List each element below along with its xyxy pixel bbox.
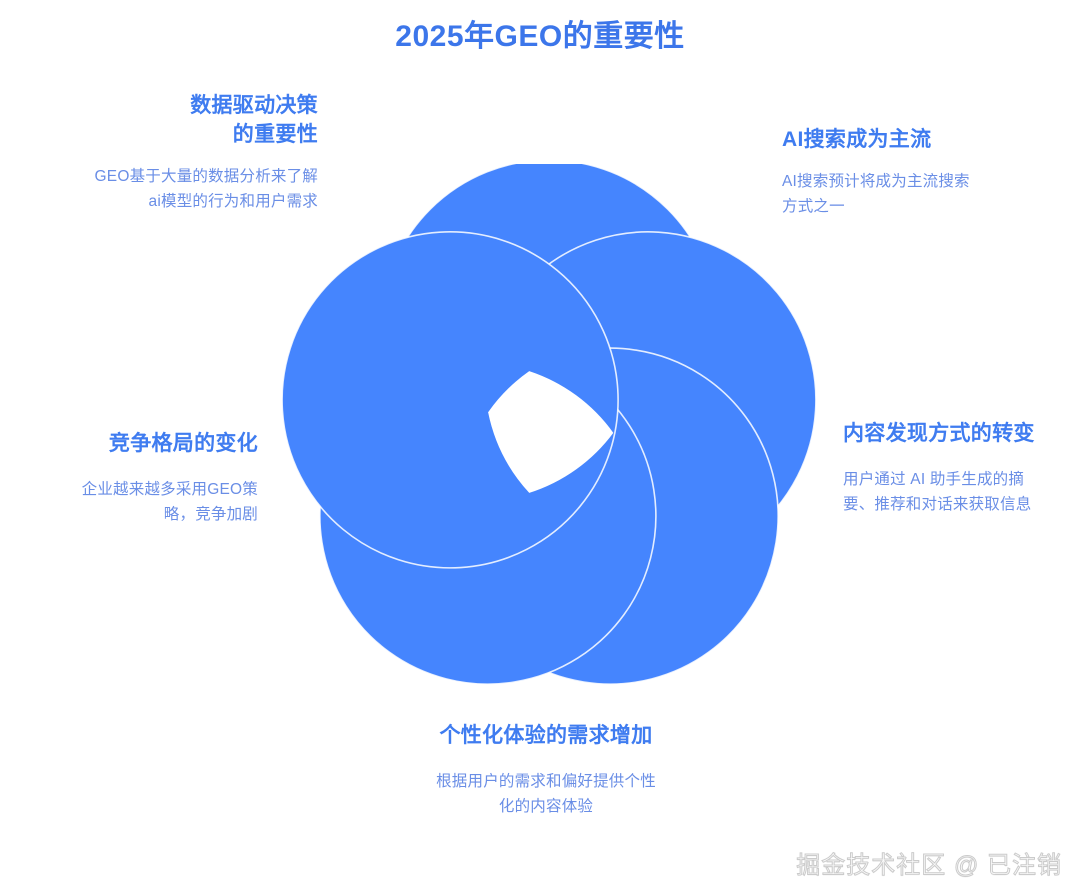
node-personalization-desc: 根据用户的需求和偏好提供个性化的内容体验 [432, 769, 660, 819]
spacer [432, 751, 660, 769]
node-ai-search-title: AI搜索成为主流 [782, 126, 982, 155]
watermark: 掘金技术社区 @ 已注销 [796, 854, 1062, 878]
spacer [782, 155, 982, 169]
node-content-discovery-desc: 用户通过 AI 助手生成的摘要、推荐和对话来获取信息 [843, 467, 1043, 517]
five-petal-rosette-graphic [275, 164, 823, 702]
node-personalization-title: 个性化体验的需求增加 [432, 722, 660, 751]
node-ai-search-desc: AI搜索预计将成为主流搜索方式之一 [782, 169, 982, 219]
node-competition: 竞争格局的变化 企业越来越多采用GEO策略，竞争加剧 [62, 430, 258, 527]
node-data-driven: 数据驱动决策 的重要性 GEO基于大量的数据分析来了解ai模型的行为和用户需求 [94, 92, 318, 214]
node-competition-title: 竞争格局的变化 [62, 430, 258, 459]
node-data-driven-desc: GEO基于大量的数据分析来了解ai模型的行为和用户需求 [94, 164, 318, 214]
spacer [62, 459, 258, 477]
node-content-discovery: 内容发现方式的转变 用户通过 AI 助手生成的摘要、推荐和对话来获取信息 [843, 420, 1043, 517]
node-competition-desc: 企业越来越多采用GEO策略，竞争加剧 [62, 477, 258, 527]
node-ai-search: AI搜索成为主流 AI搜索预计将成为主流搜索方式之一 [782, 126, 982, 219]
node-data-driven-title: 数据驱动决策 的重要性 [94, 92, 318, 150]
infographic-canvas: 2025年GEO的重要性 [0, 0, 1080, 892]
page-title: 2025年GEO的重要性 [0, 18, 1080, 56]
spacer [94, 150, 318, 164]
node-content-discovery-title: 内容发现方式的转变 [843, 420, 1043, 449]
node-personalization: 个性化体验的需求增加 根据用户的需求和偏好提供个性化的内容体验 [432, 722, 660, 819]
spacer [843, 449, 1043, 467]
